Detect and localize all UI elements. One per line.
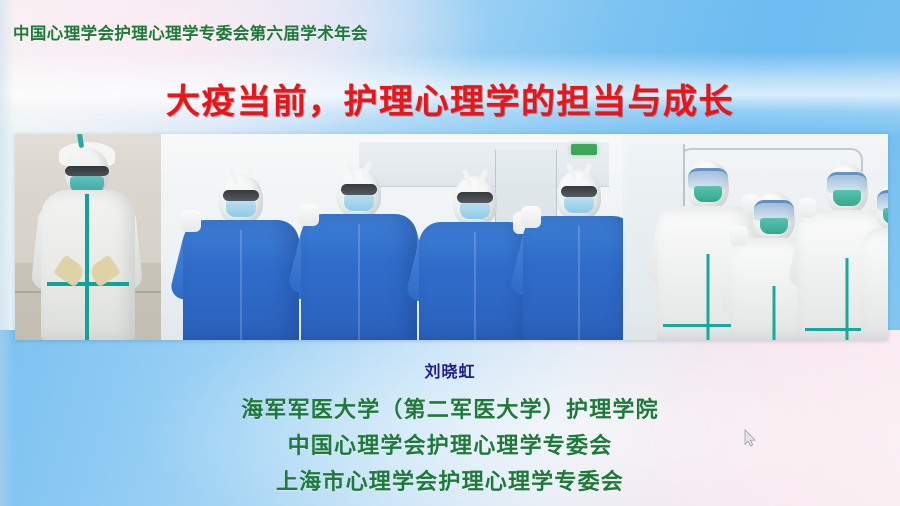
medical-worker-blue-gown-figure bbox=[301, 168, 417, 340]
conference-header: 中国心理学会护理心理学专委会第六届学术年会 bbox=[13, 20, 368, 44]
presentation-slide: 中国心理学会护理心理学专委会第六届学术年会 大疫当前，护理心理学的担当与成长 bbox=[0, 0, 900, 506]
medical-worker-blue-gown-figure bbox=[183, 174, 299, 340]
medical-worker-face-shield-figure bbox=[861, 182, 888, 340]
medical-worker-blue-gown-figure bbox=[523, 170, 623, 340]
medical-worker-blue-gown-figure bbox=[419, 176, 531, 340]
middle-photo-panel bbox=[161, 134, 623, 340]
photo-band bbox=[15, 134, 888, 340]
page-title: 大疫当前，护理心理学的担当与成长 bbox=[0, 74, 900, 123]
presenter-name: 刘晓虹 bbox=[0, 358, 900, 382]
affiliation-line-1: 海军军医大学（第二军医大学）护理学院 bbox=[0, 392, 900, 424]
affiliation-line-3: 上海市心理学会护理心理学专委会 bbox=[0, 464, 900, 496]
exit-sign-icon bbox=[571, 144, 597, 155]
right-photo-panel bbox=[623, 134, 888, 340]
left-photo-panel bbox=[15, 134, 161, 340]
affiliation-line-2: 中国心理学会护理心理学专委会 bbox=[0, 428, 900, 460]
